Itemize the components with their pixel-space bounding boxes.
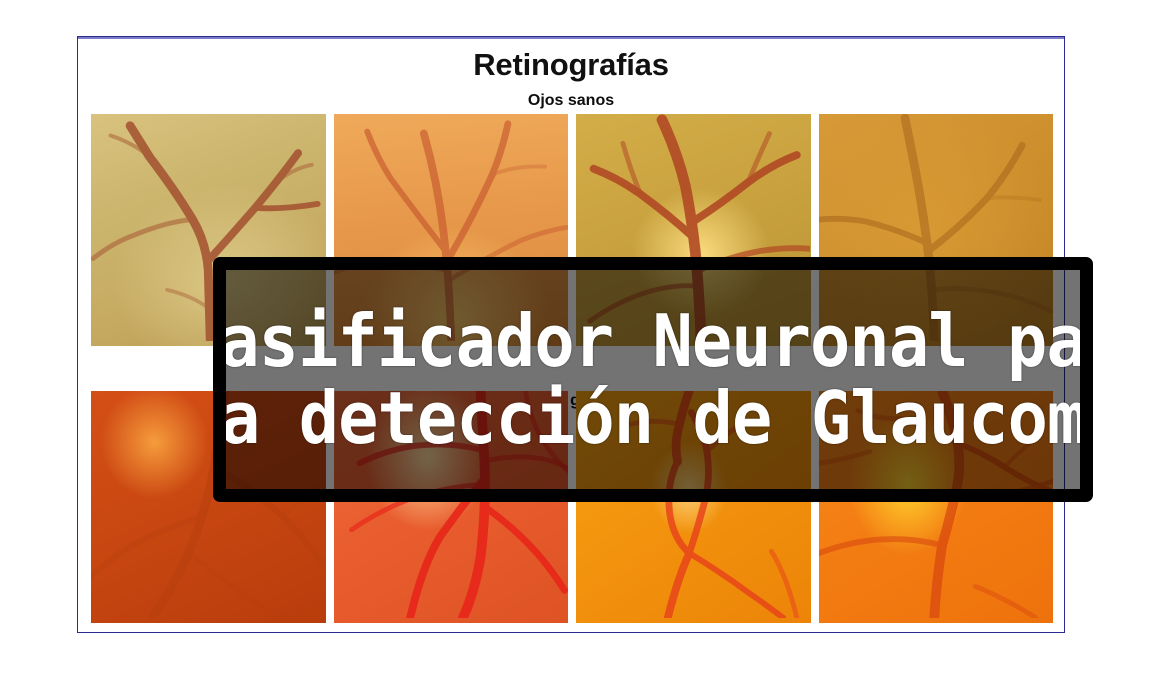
presentation-slide: Retinografías Ojos sanos — [77, 36, 1065, 633]
screenshot-stage: Retinografías Ojos sanos — [0, 0, 1149, 682]
page-title: Retinografías — [78, 49, 1064, 80]
overlay-title-line-2: la detección de Glaucoma — [213, 380, 1093, 456]
overlay-title-line-1: Clasificador Neuronal para — [213, 303, 1093, 379]
presentation-title-overlay: Clasificador Neuronal para la detección … — [213, 257, 1093, 502]
caption-healthy-eyes: Ojos sanos — [78, 93, 1064, 109]
